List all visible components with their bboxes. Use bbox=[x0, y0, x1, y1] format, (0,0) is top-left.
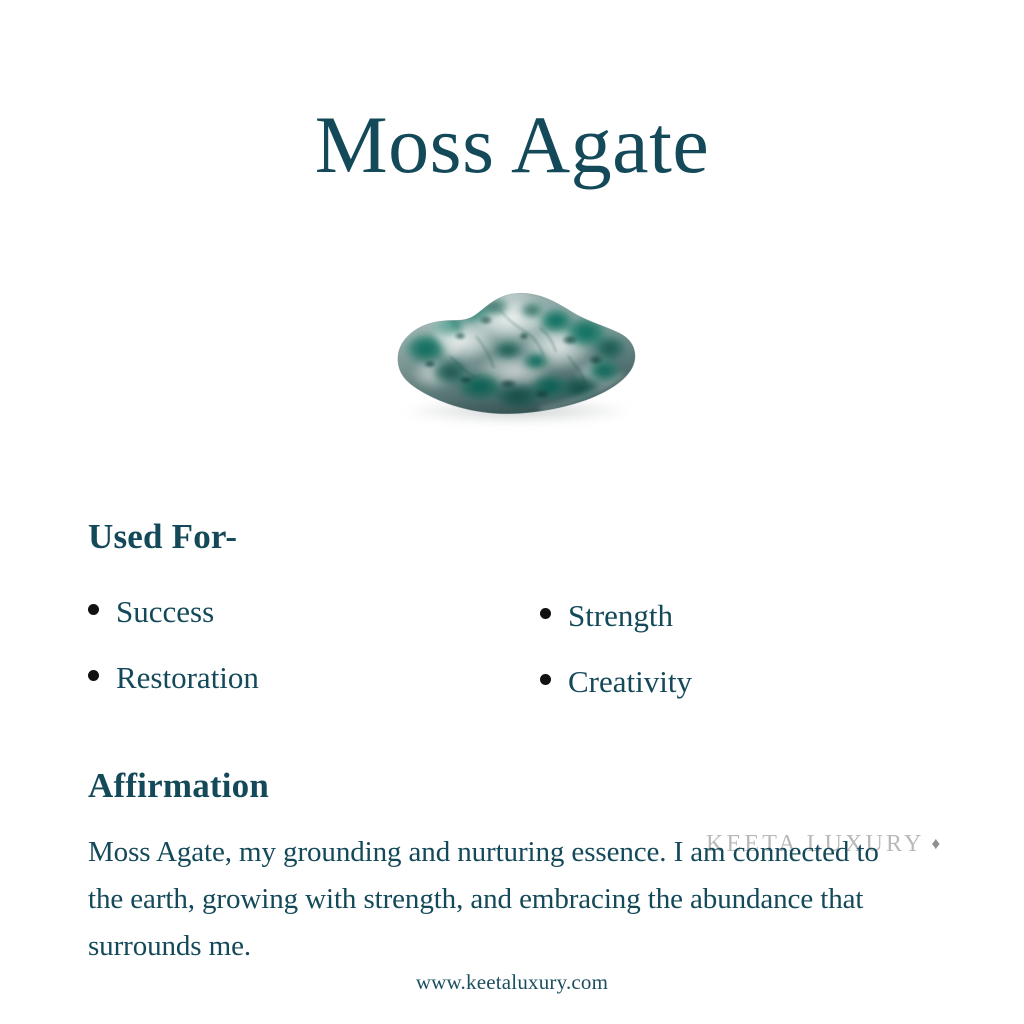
diamond-icon: ♦ bbox=[931, 834, 940, 853]
moss-agate-stone-image bbox=[390, 276, 640, 426]
footer-website: www.keetaluxury.com bbox=[0, 970, 1024, 995]
bullet-dot-icon bbox=[88, 604, 99, 615]
used-for-column-left: Success Restoration bbox=[88, 596, 259, 728]
used-for-heading: Used For- bbox=[88, 519, 237, 554]
used-for-list: Success Restoration Strength Creativity bbox=[0, 596, 1024, 716]
used-for-column-right: Strength Creativity bbox=[540, 600, 692, 732]
list-item: Success bbox=[88, 596, 259, 662]
bullet-dot-icon bbox=[88, 670, 99, 681]
card-canvas: Moss Agate bbox=[0, 0, 1024, 1024]
used-for-item-label: Restoration bbox=[116, 662, 259, 693]
stone-image-container bbox=[390, 276, 640, 436]
list-item: Restoration bbox=[88, 662, 259, 728]
used-for-item-label: Success bbox=[116, 596, 214, 627]
used-for-item-label: Strength bbox=[568, 600, 673, 631]
bullet-dot-icon bbox=[540, 608, 551, 619]
list-item: Strength bbox=[540, 600, 692, 666]
list-item: Creativity bbox=[540, 666, 692, 732]
affirmation-heading: Affirmation bbox=[88, 768, 269, 803]
page-title: Moss Agate bbox=[0, 104, 1024, 186]
used-for-item-label: Creativity bbox=[568, 666, 692, 697]
affirmation-text: Moss Agate, my grounding and nurturing e… bbox=[88, 829, 898, 970]
bullet-dot-icon bbox=[540, 674, 551, 685]
